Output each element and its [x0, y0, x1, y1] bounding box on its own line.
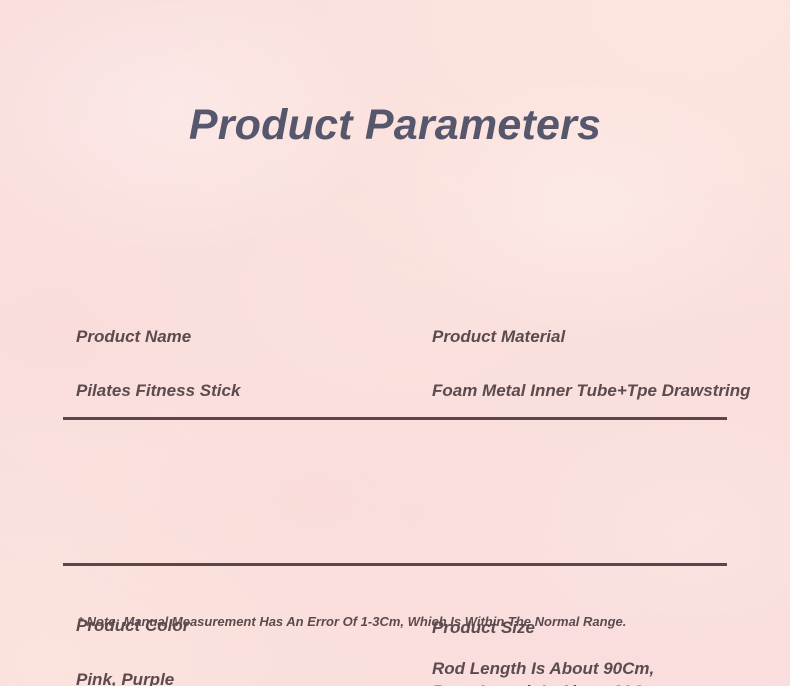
spec-value-product-size-line-1: Rod Length Is About 90Cm, — [432, 657, 659, 680]
measurement-note: * Note: Manual Measurement Has An Error … — [78, 613, 626, 631]
spec-cell-product-material: Product Material Foam Metal Inner Tube+T… — [432, 326, 751, 402]
spec-cell-product-name: Product Name Pilates Fitness Stick — [76, 326, 240, 402]
spec-value-product-color: Pink, Purple — [76, 668, 189, 686]
specifications-table: Product Name Pilates Fitness Stick Produ… — [0, 300, 790, 574]
spec-value-product-name: Pilates Fitness Stick — [76, 379, 240, 402]
spec-label-product-name: Product Name — [76, 326, 240, 348]
spec-row: Product Color Pink, Purple Product Size … — [0, 437, 790, 574]
spec-row: Product Name Pilates Fitness Stick Produ… — [0, 300, 790, 437]
spec-label-product-material: Product Material — [432, 326, 751, 348]
row-divider — [63, 417, 727, 420]
page-title: Product Parameters — [0, 99, 790, 151]
row-divider — [63, 563, 727, 566]
page-content: Product Parameters Product Name Pilates … — [0, 0, 790, 686]
product-parameters-page: Product Parameters Product Name Pilates … — [0, 0, 790, 686]
spec-value-product-size-line-2: Rope Length Is About 80Cm — [432, 680, 659, 686]
spec-value-product-material: Foam Metal Inner Tube+Tpe Drawstring — [432, 379, 751, 402]
